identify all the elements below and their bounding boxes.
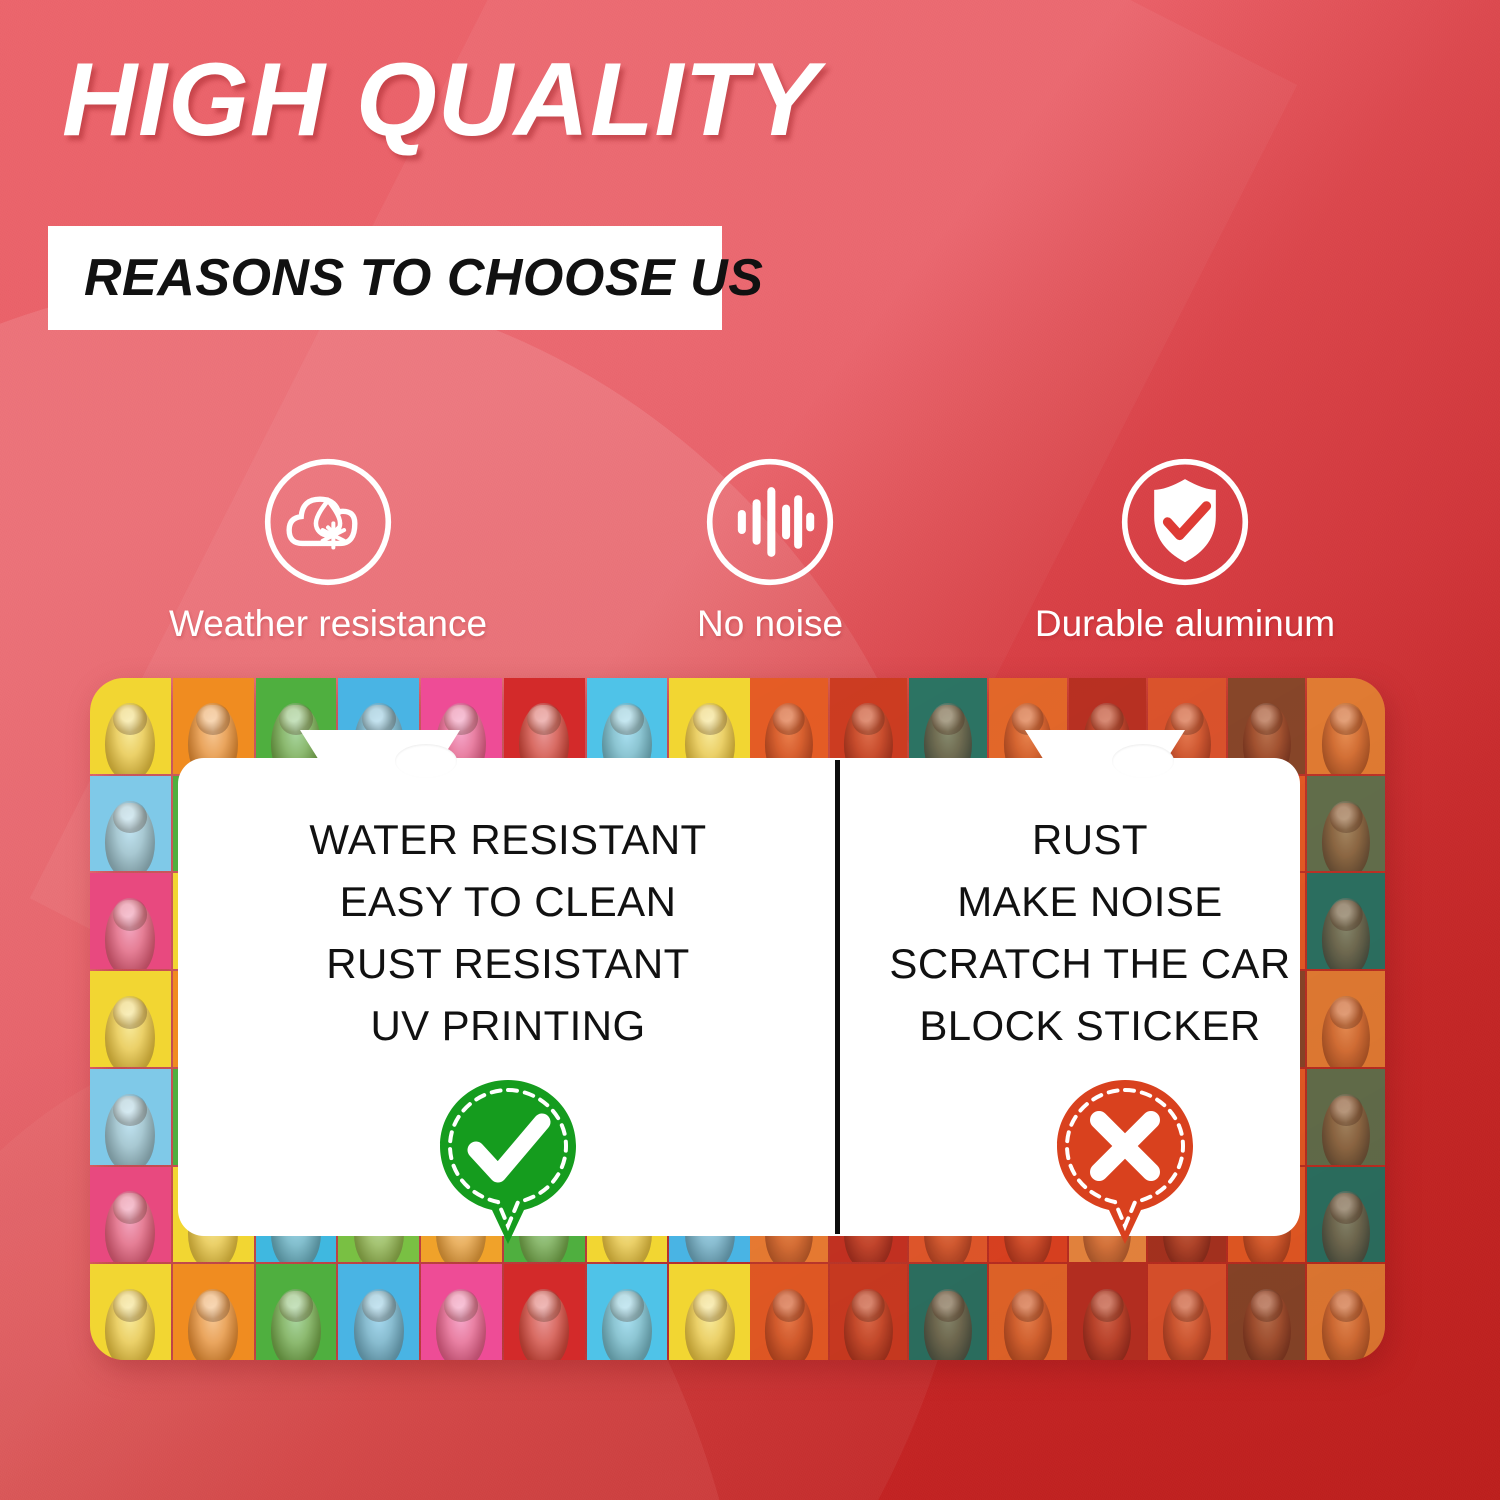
feature-label: Durable aluminum: [1035, 603, 1335, 645]
cloud-droplet-snowflake-icon: [261, 455, 395, 589]
pros-list-item: RUST RESISTANT: [326, 942, 689, 986]
dog-photo-tile: [90, 971, 171, 1067]
pros-list-item: UV PRINTING: [370, 1004, 645, 1048]
license-plate-frame-product: WATER RESISTANT EASY TO CLEAN RUST RESIS…: [90, 678, 1385, 1360]
infographic-canvas: HIGH QUALITY REASONS TO CHOOSE US Weathe…: [0, 0, 1500, 1500]
shield-check-icon: [1118, 455, 1252, 589]
subtitle-banner: REASONS TO CHOOSE US: [48, 226, 722, 330]
dog-photo-tile: [90, 776, 171, 872]
feature-label: No noise: [697, 603, 843, 645]
feature-list: Weather resistance No noise: [0, 455, 1500, 665]
dog-photo-tile: [173, 1264, 254, 1360]
dog-photo-tile: [90, 1167, 171, 1263]
page-title: HIGH QUALITY: [62, 44, 819, 156]
dog-photo-tile: [421, 1264, 502, 1360]
panel-divider: [835, 760, 840, 1234]
dog-photo-tile: [90, 873, 171, 969]
dog-photo-tile: [587, 1264, 668, 1360]
cross-mark-badge-icon: [1055, 1078, 1195, 1246]
feature-no-noise: No noise: [620, 455, 920, 645]
mounting-hole-left: [395, 744, 457, 778]
feature-label: Weather resistance: [169, 603, 487, 645]
dog-photo-tile: [504, 1264, 585, 1360]
cons-list: RUST MAKE NOISE SCRATCH THE CAR BLOCK ST…: [890, 818, 1290, 1048]
subtitle-banner-label: REASONS TO CHOOSE US: [48, 248, 763, 308]
pros-list-item: EASY TO CLEAN: [340, 880, 677, 924]
dog-photo-tile: [338, 1264, 419, 1360]
dog-photo-tile: [256, 1264, 337, 1360]
pros-badge: [438, 1078, 578, 1246]
cons-list-item: SCRATCH THE CAR: [889, 942, 1290, 986]
dog-photo-tile: [90, 1264, 171, 1360]
cons-list-item: MAKE NOISE: [957, 880, 1222, 924]
sound-waveform-icon: [703, 455, 837, 589]
mounting-hole-right: [1112, 744, 1174, 778]
pros-list: WATER RESISTANT EASY TO CLEAN RUST RESIS…: [220, 818, 796, 1048]
cons-list-item: BLOCK STICKER: [919, 1004, 1260, 1048]
dog-photo-tile: [669, 1264, 750, 1360]
feature-weather-resistance: Weather resistance: [148, 455, 508, 645]
dog-photo-tile: [90, 678, 171, 774]
pros-list-item: WATER RESISTANT: [309, 818, 706, 862]
feature-durable-aluminum: Durable aluminum: [1000, 455, 1370, 645]
dog-photo-tile: [90, 1069, 171, 1165]
check-mark-badge-icon: [438, 1078, 578, 1246]
cons-list-item: RUST: [1032, 818, 1148, 862]
cons-badge: [1055, 1078, 1195, 1246]
